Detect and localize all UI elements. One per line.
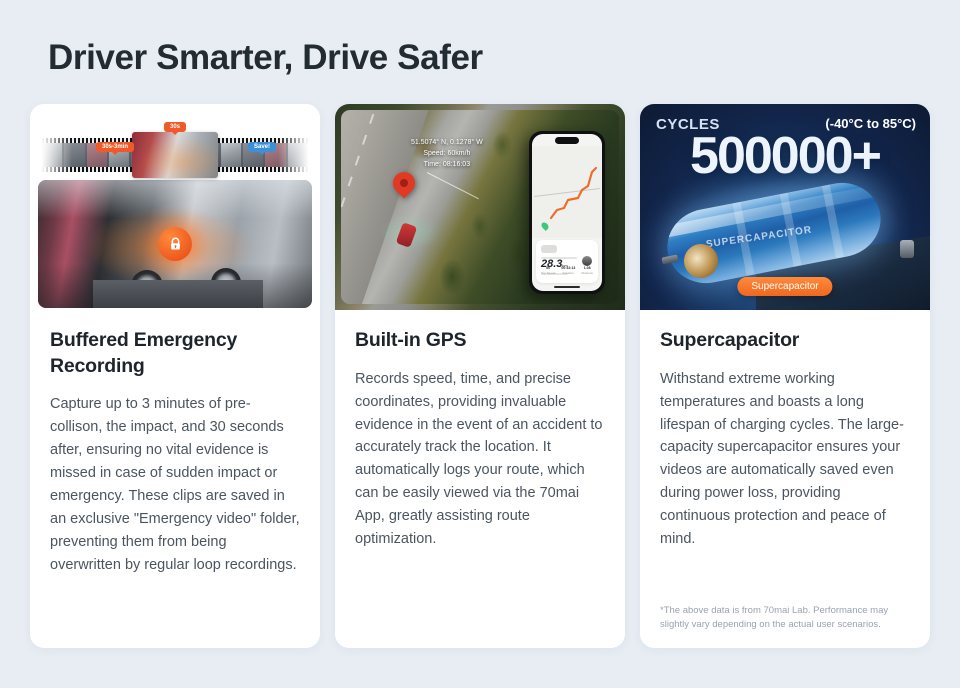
phone-home-indicator — [554, 286, 580, 288]
filmstrip-fade-right — [278, 138, 312, 172]
filmstrip-highlight-frame — [132, 132, 218, 178]
filmstrip-tag-label: Save! — [254, 144, 270, 150]
filmstrip-tag-label: 30s — [170, 124, 180, 130]
phone-stat-label: Top Speed — [541, 271, 555, 275]
filmstrip: 30s-3min 30s Save! — [38, 116, 312, 174]
filmstrip-tag-post-event: 30s — [164, 122, 186, 132]
phone-summary-card: 28.3km 60 Top Speed — [536, 240, 598, 283]
cylinder-band — [822, 184, 844, 258]
car-wheel — [131, 270, 163, 302]
avatar — [582, 256, 592, 266]
card-title: Supercapacitor — [660, 328, 910, 354]
phone-route-map — [532, 146, 602, 238]
cycles-label: CYCLES — [656, 116, 720, 133]
card-footnote: *The above data is from 70mai Lab. Perfo… — [660, 590, 910, 633]
card-title: Buffered Emergency Recording — [50, 328, 300, 379]
phone-stat-value: 60 — [546, 266, 550, 270]
status-bar-left — [536, 139, 537, 143]
card-body: Supercapacitor Withstand extreme working… — [640, 310, 930, 648]
aerial-photo: 51.5074° N, 0.1278° W Speed: 60km/h Time… — [341, 110, 619, 304]
feature-card-grid: 30s-3min 30s Save! — [30, 104, 930, 648]
phone-stat-label: Duration — [561, 271, 575, 275]
phone-stat-value: 00:32:13 — [561, 266, 575, 270]
status-bar-right — [597, 139, 598, 143]
phone-stat: 1.08 Distance — [581, 266, 593, 275]
gps-coordinates: 51.5074° N, 0.1278° W — [411, 138, 483, 149]
card-media-filmstrip-collision: 30s-3min 30s Save! — [30, 104, 320, 310]
phone-stat: 00:32:13 Duration — [561, 266, 575, 275]
card-description: Capture up to 3 minutes of pre-collison,… — [50, 393, 300, 576]
card-description: Withstand extreme working temperatures a… — [660, 368, 910, 551]
phone-stat-row: 60 Top Speed 00:32:13 Duration 1.08 — [541, 266, 593, 275]
gps-speed: Speed: 60km/h — [411, 149, 483, 160]
collision-photo — [38, 180, 312, 308]
filmstrip-fade-left — [38, 138, 72, 172]
film-frame — [221, 143, 241, 167]
feature-card-supercapacitor[interactable]: 500000+ CYCLES (-40°C to 85°C) SUPERCAPA… — [640, 104, 930, 648]
route-polyline — [540, 160, 600, 226]
phone-mockup: 28.3km 60 Top Speed — [529, 131, 605, 294]
phone-notch — [555, 137, 579, 144]
feature-card-buffered-emergency-recording[interactable]: 30s-3min 30s Save! — [30, 104, 320, 648]
feature-page: Driver Smarter, Drive Safer — [0, 0, 960, 688]
card-body: Buffered Emergency Recording Capture up … — [30, 310, 320, 648]
phone-stat: 60 Top Speed — [541, 266, 555, 275]
board-terminal — [900, 240, 914, 258]
card-body: Built-in GPS Records speed, time, and pr… — [335, 310, 625, 648]
gps-readout-overlay: 51.5074° N, 0.1278° W Speed: 60km/h Time… — [411, 138, 483, 171]
filmstrip-tag-save: Save! — [248, 142, 276, 152]
filmstrip-tag-pre-event: 30s-3min — [96, 142, 134, 152]
card-title: Built-in GPS — [355, 328, 605, 354]
phone-logo-chip — [541, 245, 557, 253]
phone-stat-label: Distance — [581, 271, 593, 275]
card-description: Records speed, time, and precise coordin… — [355, 368, 605, 551]
lock-icon — [158, 227, 192, 261]
card-media-supercapacitor: 500000+ CYCLES (-40°C to 85°C) SUPERCAPA… — [640, 104, 930, 310]
phone-stat-value: 1.08 — [584, 266, 591, 270]
supercapacitor-badge: Supercapacitor — [737, 277, 832, 296]
feature-card-built-in-gps[interactable]: 51.5074° N, 0.1278° W Speed: 60km/h Time… — [335, 104, 625, 648]
gps-time: Time: 08:16:03 — [411, 160, 483, 171]
filmstrip-tag-label: 30s-3min — [102, 144, 128, 150]
car-wheel — [211, 268, 241, 298]
card-media-aerial-road: 51.5074° N, 0.1278° W Speed: 60km/h Time… — [335, 104, 625, 310]
phone-screen: 28.3km 60 Top Speed — [532, 134, 602, 291]
page-title: Driver Smarter, Drive Safer — [48, 38, 483, 78]
cycles-value: 500000+ — [646, 130, 924, 182]
temperature-range-label: (-40°C to 85°C) — [825, 116, 916, 131]
